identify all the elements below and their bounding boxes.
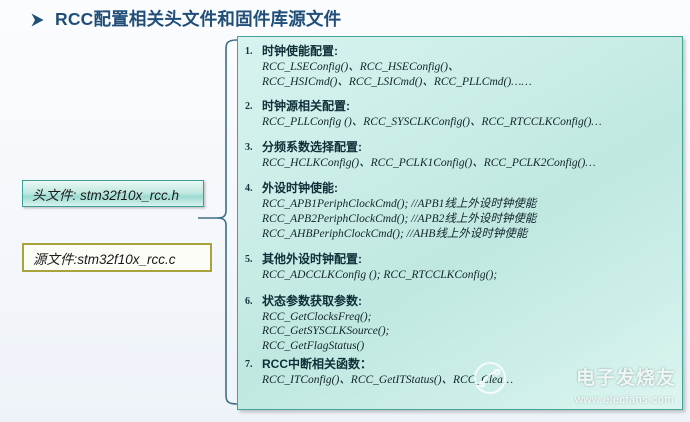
- slide-canvas: RCC配置相关头文件和固件库源文件 头文件: stm32f10x_rcc.h 源…: [0, 0, 690, 422]
- list-item: 2. 时钟源相关配置: RCC_PLLConfig ()、RCC_SYSCLKC…: [245, 99, 676, 130]
- item-body: 分频系数选择配置: RCC_HCLKConfig()、RCC_PCLK1Conf…: [262, 140, 676, 171]
- list-item: 5. 其他外设时钟配置: RCC_ADCCLKConfig (); RCC_RT…: [245, 252, 676, 283]
- item-number: 3.: [245, 140, 262, 153]
- item-code-line: RCC_ADCCLKConfig (); RCC_RTCCLKConfig();: [262, 268, 676, 283]
- item-number: 1.: [245, 44, 262, 57]
- item-number: 2.: [245, 99, 262, 112]
- item-heading: 时钟源相关配置:: [262, 99, 676, 114]
- list-item: 1. 时钟使能配置: RCC_LSEConfig()、RCC_HSEConfig…: [245, 44, 676, 90]
- source-file-label: 源文件:stm32f10x_rcc.c: [22, 243, 212, 272]
- item-heading: 外设时钟使能:: [262, 181, 676, 196]
- item-code-line: RCC_GetClocksFreq();: [262, 310, 676, 325]
- source-file-text: 源文件:stm32f10x_rcc.c: [33, 248, 176, 268]
- item-heading: 时钟使能配置:: [262, 44, 676, 59]
- rcc-function-list-panel: 1. 时钟使能配置: RCC_LSEConfig()、RCC_HSEConfig…: [237, 36, 683, 410]
- item-heading: 分频系数选择配置:: [262, 140, 676, 155]
- header-file-text: 头文件: stm32f10x_rcc.h: [32, 184, 179, 204]
- item-code-line: RCC_AHBPeriphClockCmd(); //AHB线上外设时钟使能: [262, 227, 676, 242]
- list-item: 4. 外设时钟使能: RCC_APB1PeriphClockCmd(); //A…: [245, 181, 676, 242]
- item-body: 时钟使能配置: RCC_LSEConfig()、RCC_HSEConfig()、…: [262, 44, 676, 90]
- item-number: 5.: [245, 252, 262, 265]
- header-file-label: 头文件: stm32f10x_rcc.h: [22, 180, 204, 207]
- item-number: 4.: [245, 181, 262, 194]
- item-number: 6.: [245, 294, 262, 307]
- item-body: 状态参数获取参数: RCC_GetClocksFreq(); RCC_GetSY…: [262, 294, 676, 355]
- page-title-text: RCC配置相关头文件和固件库源文件: [55, 11, 341, 29]
- item-code-line: RCC_LSEConfig()、RCC_HSEConfig()、: [262, 60, 676, 75]
- list-item: 3. 分频系数选择配置: RCC_HCLKConfig()、RCC_PCLK1C…: [245, 140, 676, 171]
- item-body: 时钟源相关配置: RCC_PLLConfig ()、RCC_SYSCLKConf…: [262, 99, 676, 130]
- arrow-bullet-icon: [30, 12, 45, 28]
- item-code-line: RCC_GetFlagStatus(): [262, 339, 676, 354]
- item-number: 7.: [245, 357, 262, 370]
- item-code-line: RCC_APB2PeriphClockCmd(); //APB2线上外设时钟使能: [262, 212, 676, 227]
- item-code-line: RCC_HCLKConfig()、RCC_PCLK1Config()、RCC_P…: [262, 156, 676, 171]
- page-title: RCC配置相关头文件和固件库源文件: [30, 11, 341, 29]
- item-code-line: RCC_APB1PeriphClockCmd(); //APB1线上外设时钟使能: [262, 197, 676, 212]
- item-heading: 状态参数获取参数:: [262, 294, 676, 309]
- item-body: 外设时钟使能: RCC_APB1PeriphClockCmd(); //APB1…: [262, 181, 676, 242]
- item-code-line: RCC_HSICmd()、RCC_LSICmd()、RCC_PLLCmd()……: [262, 75, 676, 90]
- item-code-line: RCC_GetSYSCLKSource();: [262, 324, 676, 339]
- item-heading: 其他外设时钟配置:: [262, 252, 676, 267]
- item-code-line: RCC_PLLConfig ()、RCC_SYSCLKConfig()、RCC_…: [262, 115, 676, 130]
- item-body: 其他外设时钟配置: RCC_ADCCLKConfig (); RCC_RTCCL…: [262, 252, 676, 283]
- list-item: 6. 状态参数获取参数: RCC_GetClocksFreq(); RCC_Ge…: [245, 294, 676, 355]
- list-item: 7. RCC中断相关函数： RCC_ITConfig()、RCC_GetITSt…: [245, 357, 676, 388]
- item-code-line: RCC_ITConfig()、RCC_GetITStatus()、RCC_Cle…: [262, 373, 676, 388]
- item-heading: RCC中断相关函数：: [262, 357, 676, 372]
- item-body: RCC中断相关函数： RCC_ITConfig()、RCC_GetITStatu…: [262, 357, 676, 388]
